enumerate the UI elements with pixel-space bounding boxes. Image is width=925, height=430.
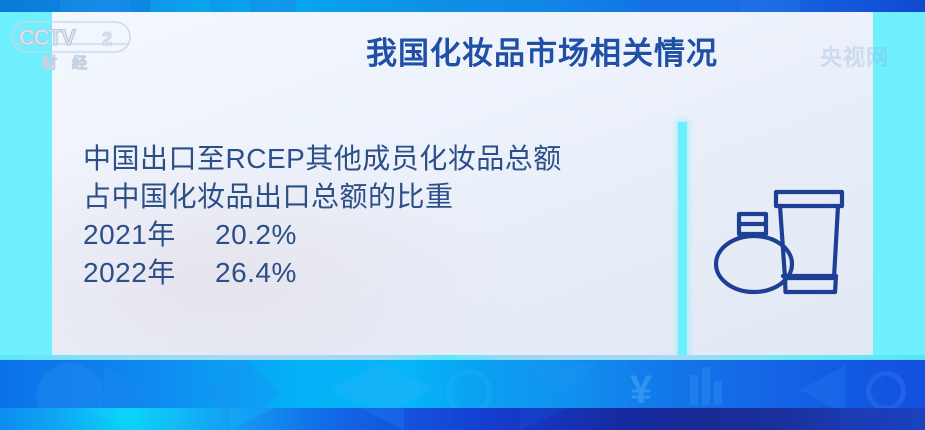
band-segment [60, 0, 130, 12]
yen-symbol-shape: ¥ [620, 369, 662, 413]
triangle-shape [230, 408, 274, 430]
svg-text:经: 经 [72, 54, 87, 72]
cctv2-channel-logo: CCTV 2 财 经 [10, 16, 136, 74]
circle-outline-shape [866, 371, 906, 411]
bar-chart-shape [702, 367, 710, 405]
stat-row: 2022年 26.4% [83, 254, 643, 292]
band-lower-strip [0, 408, 925, 430]
cosmetics-bottle-tube-icon [714, 172, 854, 312]
stat-row: 2021年 20.2% [83, 216, 643, 254]
stat-value: 26.4% [215, 254, 297, 292]
bar-chart-shape [690, 375, 698, 405]
description-line-1: 中国出口至RCEP其他成员化妆品总额 [83, 140, 643, 178]
site-watermark: 央视网 [820, 40, 889, 72]
band-top-edge [0, 355, 925, 360]
statistics-text-block: 中国出口至RCEP其他成员化妆品总额 占中国化妆品出口总额的比重 2021年 2… [83, 140, 643, 292]
top-decorative-band [0, 0, 925, 12]
stat-value: 20.2% [215, 216, 297, 254]
page-title: 我国化妆品市场相关情况 [366, 28, 806, 72]
svg-text:财: 财 [42, 54, 57, 72]
broadcast-graphic-screen: CCTV 2 财 经 我国化妆品市场相关情况 央视网 中国出口至RCEP其他成员… [0, 0, 925, 430]
bar-chart-shape [714, 381, 722, 405]
description-line-2: 占中国化妆品出口总额的比重 [83, 178, 643, 216]
triangle-shape [520, 408, 568, 430]
svg-text:2: 2 [102, 29, 112, 49]
bottom-decorative-band: ¥ [0, 355, 925, 430]
triangle-shape [840, 408, 890, 430]
triangle-shape [360, 408, 404, 430]
triangle-shape [86, 408, 126, 430]
svg-text:CCTV: CCTV [19, 25, 76, 50]
triangle-shape [700, 408, 750, 430]
band-segment [640, 0, 696, 12]
vertical-divider [678, 122, 687, 357]
chevron-shape [530, 365, 598, 395]
band-segment [150, 0, 210, 12]
stat-year-label: 2022年 [83, 254, 215, 292]
stat-year-label: 2021年 [83, 216, 215, 254]
band-segment [740, 0, 800, 12]
band-segment [250, 0, 296, 12]
